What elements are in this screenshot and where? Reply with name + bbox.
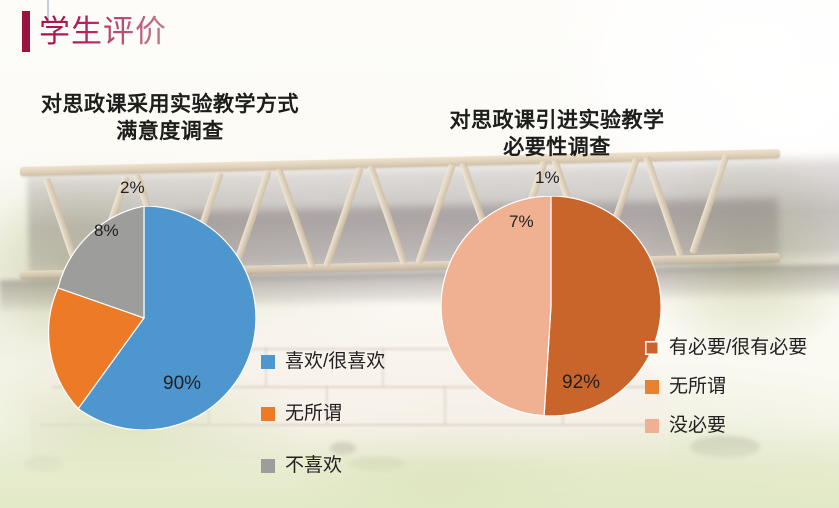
chart-satisfaction-title: 对思政课采用实验教学方式 满意度调查: [20, 92, 320, 146]
legend-item-unnecessary[interactable]: 没必要: [645, 416, 807, 435]
legend-item-neutral[interactable]: 无所谓: [645, 377, 807, 396]
legend-item-neutral[interactable]: 无所谓: [261, 404, 385, 423]
chart-necessity-legend: 有必要/很有必要 无所谓 没必要: [645, 338, 807, 435]
pie-svg-necessity: [441, 196, 661, 416]
chart-satisfaction-legend: 喜欢/很喜欢 无所谓 不喜欢: [261, 352, 385, 475]
background-green-strip: [0, 424, 839, 508]
chart-title-line-2: 满意度调查: [20, 119, 320, 146]
pie-slice-unnecessary[interactable]: [441, 196, 551, 416]
chart-necessity-title: 对思政课引进实验教学 必要性调查: [428, 108, 686, 162]
legend-label-neutral: 无所谓: [285, 404, 342, 423]
chart-satisfaction-label-2: 2%: [120, 178, 145, 198]
page-title: 学生评价: [39, 11, 167, 52]
legend-swatch-dislike-icon: [261, 459, 275, 473]
legend-item-dislike[interactable]: 不喜欢: [261, 456, 385, 475]
chart-necessity-label-1: 1%: [535, 168, 560, 188]
legend-label-necessary: 有必要/很有必要: [669, 338, 807, 357]
legend-label-like: 喜欢/很喜欢: [285, 352, 385, 371]
legend-label-unnecessary: 没必要: [669, 416, 726, 435]
legend-label-dislike: 不喜欢: [285, 456, 342, 475]
chart-title-line-1: 对思政课采用实验教学方式: [20, 92, 320, 119]
legend-label-neutral: 无所谓: [669, 377, 726, 396]
legend-swatch-like-icon: [261, 355, 275, 369]
legend-item-necessary[interactable]: 有必要/很有必要: [645, 338, 807, 357]
chart-necessity-pie[interactable]: [441, 196, 661, 416]
slide-header: 学生评价: [22, 11, 167, 52]
chart-satisfaction-label-8: 8%: [94, 221, 119, 241]
legend-swatch-neutral-icon: [261, 407, 275, 421]
chart-necessity-label-92: 92%: [562, 372, 600, 394]
pie-svg-satisfaction: [32, 206, 256, 430]
chart-necessity-label-7: 7%: [509, 212, 534, 232]
legend-swatch-necessary-icon: [645, 341, 659, 355]
legend-item-like[interactable]: 喜欢/很喜欢: [261, 352, 385, 371]
slide-canvas: 学生评价 对思政课采用实验教学方式 满意度调查 90% 8% 2% 喜欢/很喜欢: [0, 0, 839, 508]
chart-title-line-1: 对思政课引进实验教学: [428, 108, 686, 135]
chart-title-line-2: 必要性调查: [428, 135, 686, 162]
chart-satisfaction-pie[interactable]: [32, 206, 256, 430]
header-accent-bar: [22, 11, 30, 52]
chart-satisfaction-label-90: 90%: [163, 373, 201, 395]
legend-swatch-neutral-icon: [645, 380, 659, 394]
legend-swatch-unnecessary-icon: [645, 419, 659, 433]
